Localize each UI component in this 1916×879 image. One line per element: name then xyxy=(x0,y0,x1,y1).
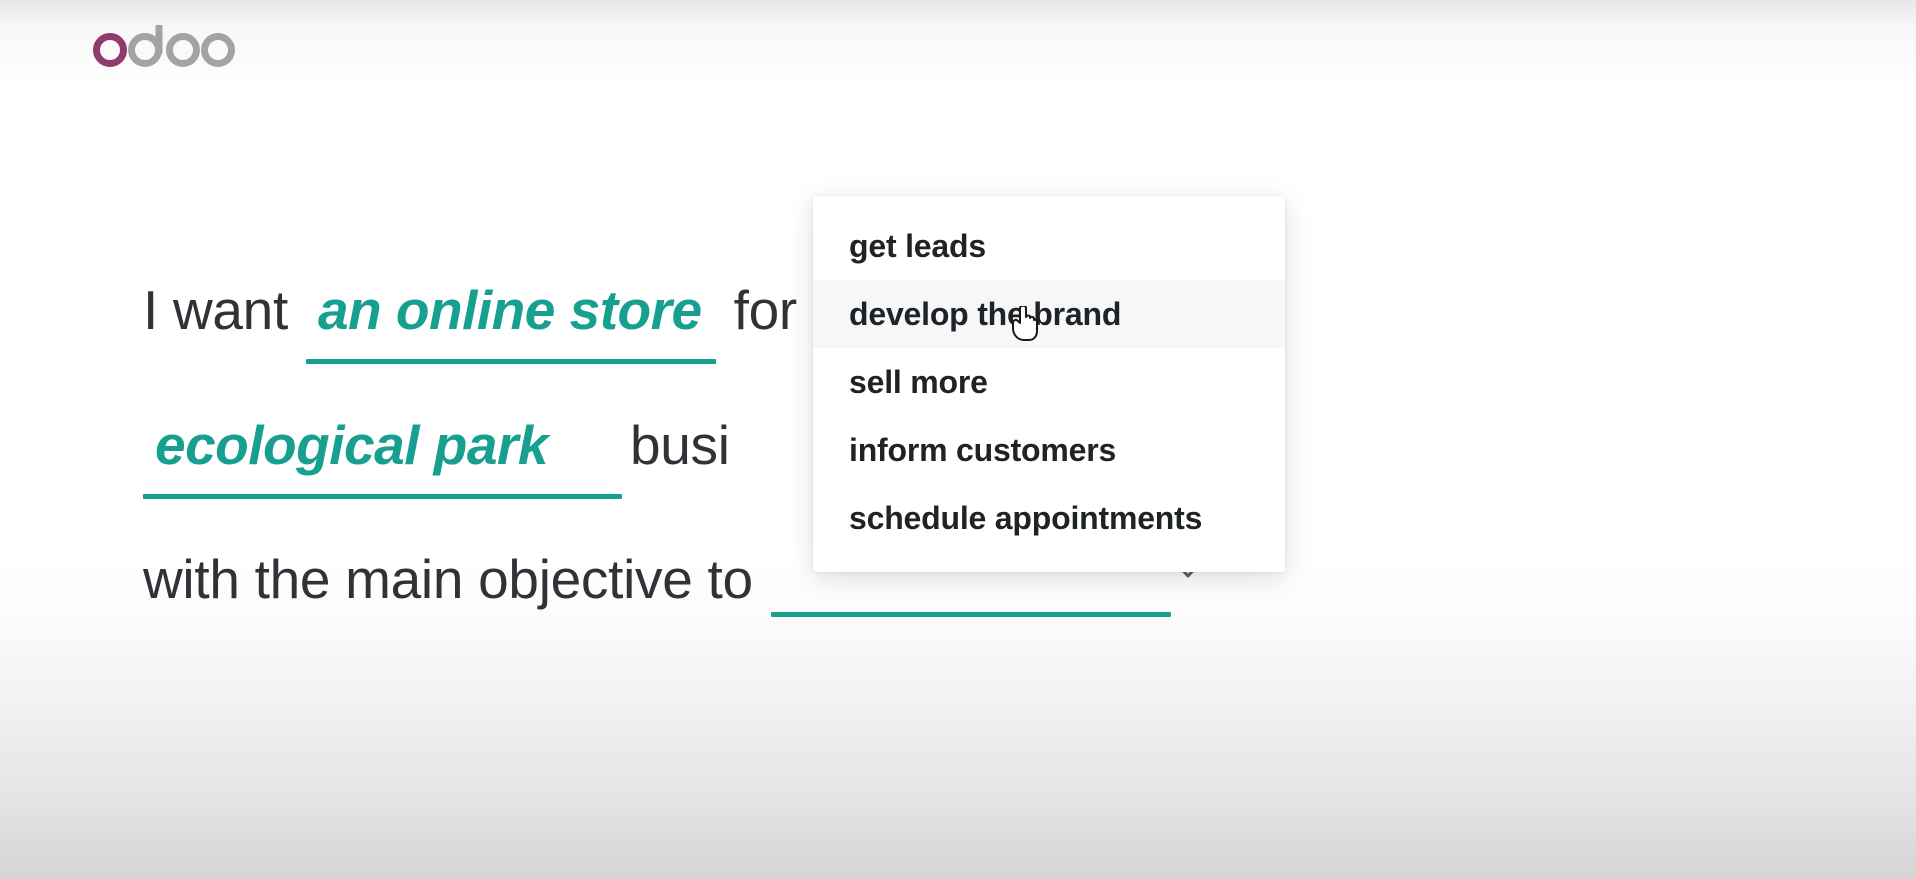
website-type-field[interactable]: an online store xyxy=(306,283,716,338)
line3-prefix-text: with the main objective to xyxy=(143,552,753,607)
objective-dropdown-menu[interactable]: get leads develop the brand sell more in… xyxy=(813,196,1285,572)
configurator-line-1: I want an online store for xyxy=(143,283,797,338)
industry-field[interactable]: ecological park xyxy=(143,418,562,473)
line1-suffix-text: for xyxy=(734,283,797,338)
dropdown-item-get-leads[interactable]: get leads xyxy=(813,212,1285,280)
dropdown-item-inform-customers[interactable]: inform customers xyxy=(813,416,1285,484)
line1-prefix-text: I want xyxy=(143,283,288,338)
configurator-line-2: ecological park busi xyxy=(143,418,730,473)
dropdown-item-sell-more[interactable]: sell more xyxy=(813,348,1285,416)
line2-suffix-text: busi xyxy=(630,418,730,473)
dropdown-item-develop-the-brand[interactable]: develop the brand xyxy=(813,280,1285,348)
odoo-logo[interactable] xyxy=(88,22,240,68)
odoo-logo-icon xyxy=(88,22,240,68)
dropdown-item-schedule-appointments[interactable]: schedule appointments xyxy=(813,484,1285,552)
